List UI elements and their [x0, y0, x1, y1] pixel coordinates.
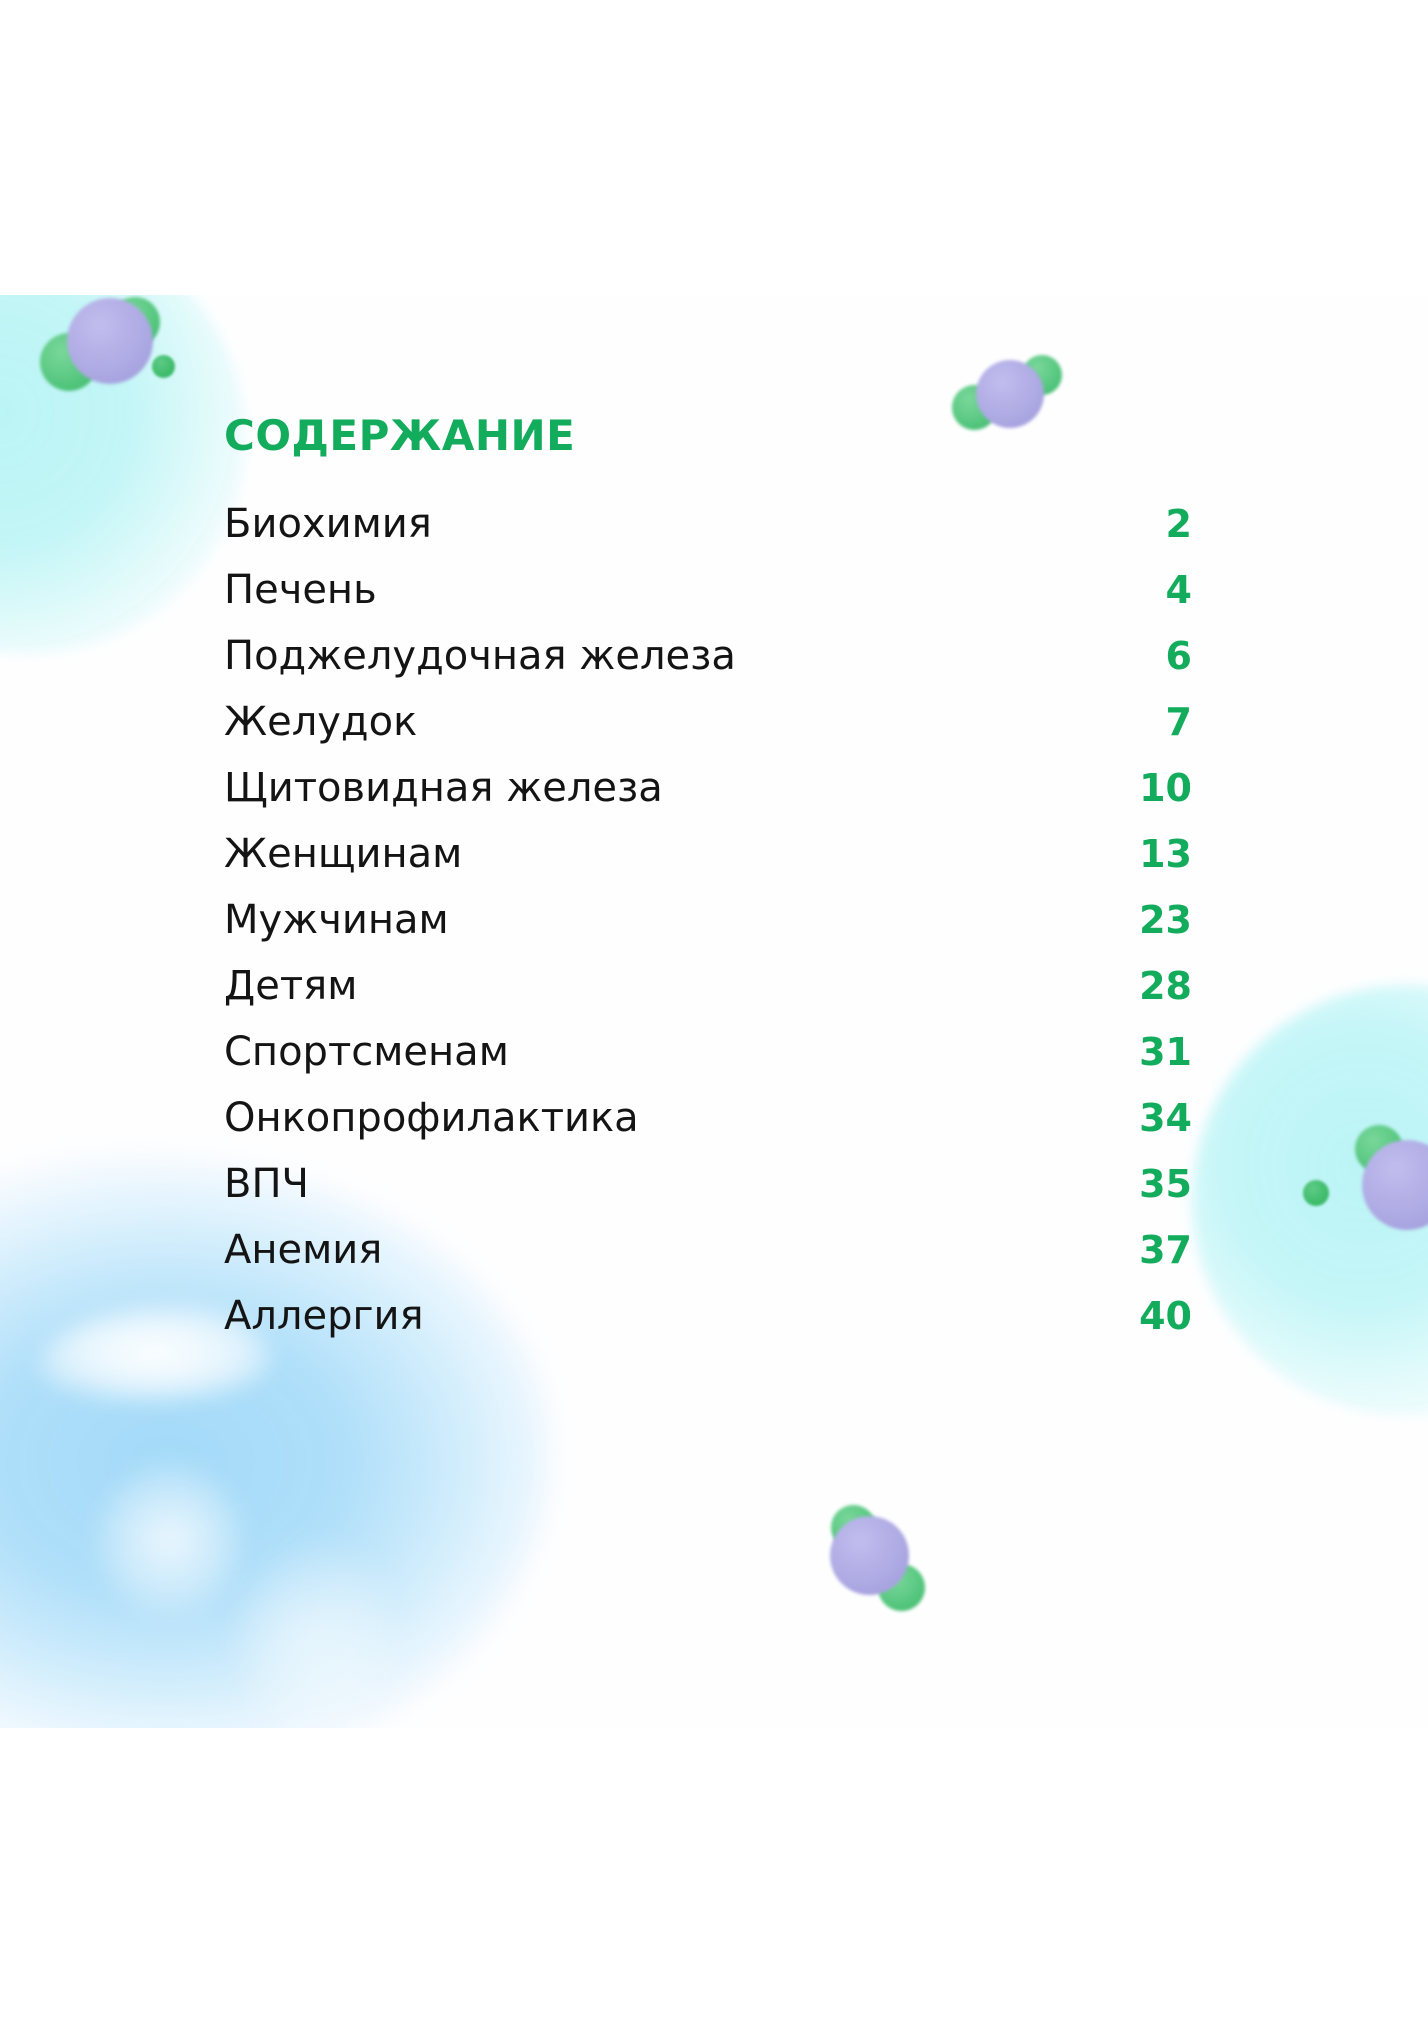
- toc-entry-page-number: 4: [1112, 567, 1192, 613]
- cyan-glow-right: [1192, 985, 1428, 1415]
- toc-entry[interactable]: Биохимия2: [224, 501, 1192, 547]
- toc-entry-page-number: 35: [1112, 1161, 1192, 1207]
- toc-entry-page-number: 6: [1112, 633, 1192, 679]
- toc-entry[interactable]: ВПЧ35: [224, 1161, 1192, 1207]
- toc-entry[interactable]: Онкопрофилактика34: [224, 1095, 1192, 1141]
- toc-entry-label: Биохимия: [224, 501, 432, 547]
- molecule-atom-green-icon: [40, 333, 98, 391]
- molecule-atom-green-small-icon: [152, 355, 175, 378]
- toc-entry[interactable]: Щитовидная железа10: [224, 765, 1192, 811]
- toc-entry-page-number: 2: [1112, 501, 1192, 547]
- molecule-atom-green-icon: [878, 1564, 925, 1611]
- molecule-atom-purple-icon: [67, 298, 153, 384]
- molecule-atom-green-icon: [1410, 1167, 1428, 1213]
- toc-entry-page-number: 10: [1112, 765, 1192, 811]
- toc-entry-page-number: 7: [1112, 699, 1192, 745]
- toc-entry[interactable]: Женщинам13: [224, 831, 1192, 877]
- toc-entry-page-number: 40: [1112, 1293, 1192, 1339]
- toc-entry-page-number: 34: [1112, 1095, 1192, 1141]
- page-sheet: СОДЕРЖАНИЕ Биохимия2Печень4Поджелудочная…: [0, 295, 1428, 1728]
- toc-entry-page-number: 28: [1112, 963, 1192, 1009]
- blue-cloud-highlight-3: [240, 1545, 390, 1728]
- toc-entry-page-number: 31: [1112, 1029, 1192, 1075]
- blue-cloud-highlight-2: [100, 1465, 240, 1615]
- toc-entry[interactable]: Анемия37: [224, 1227, 1192, 1273]
- toc-entry-label: Аллергия: [224, 1293, 424, 1339]
- cyan-glow-top-left: [0, 295, 245, 653]
- toc-entry-page-number: 37: [1112, 1227, 1192, 1273]
- toc-entry-label: Детям: [224, 963, 357, 1009]
- toc-entry[interactable]: Поджелудочная железа6: [224, 633, 1192, 679]
- toc-entry-label: Спортсменам: [224, 1029, 509, 1075]
- toc-entry-label: Печень: [224, 567, 377, 613]
- molecule-atom-green-icon: [831, 1505, 876, 1550]
- molecule-atom-green-small-icon: [1303, 1180, 1329, 1206]
- molecule-atom-green-icon: [1355, 1125, 1403, 1173]
- toc-entry-label: ВПЧ: [224, 1161, 309, 1207]
- toc-entry-label: Поджелудочная железа: [224, 633, 736, 679]
- toc-entry[interactable]: Желудок7: [224, 699, 1192, 745]
- toc-entry-label: Желудок: [224, 699, 417, 745]
- toc-entry-label: Щитовидная железа: [224, 765, 663, 811]
- table-of-contents: СОДЕРЖАНИЕ Биохимия2Печень4Поджелудочная…: [224, 415, 1192, 1359]
- molecule-atom-purple-icon: [1362, 1140, 1428, 1230]
- molecule-atom-green-icon: [1022, 355, 1062, 395]
- toc-entry[interactable]: Спортсменам31: [224, 1029, 1192, 1075]
- toc-entry[interactable]: Аллергия40: [224, 1293, 1192, 1339]
- toc-entry-label: Мужчинам: [224, 897, 449, 943]
- toc-entry-label: Анемия: [224, 1227, 382, 1273]
- toc-entry[interactable]: Печень4: [224, 567, 1192, 613]
- molecule-atom-purple-icon: [830, 1516, 909, 1595]
- toc-entry-page-number: 13: [1112, 831, 1192, 877]
- toc-entry-page-number: 23: [1112, 897, 1192, 943]
- molecule-atom-green-icon: [110, 297, 160, 347]
- toc-list: Биохимия2Печень4Поджелудочная железа6Жел…: [224, 501, 1192, 1339]
- toc-entry[interactable]: Мужчинам23: [224, 897, 1192, 943]
- toc-entry-label: Онкопрофилактика: [224, 1095, 639, 1141]
- page-title: СОДЕРЖАНИЕ: [224, 415, 1192, 457]
- toc-entry[interactable]: Детям28: [224, 963, 1192, 1009]
- toc-entry-label: Женщинам: [224, 831, 462, 877]
